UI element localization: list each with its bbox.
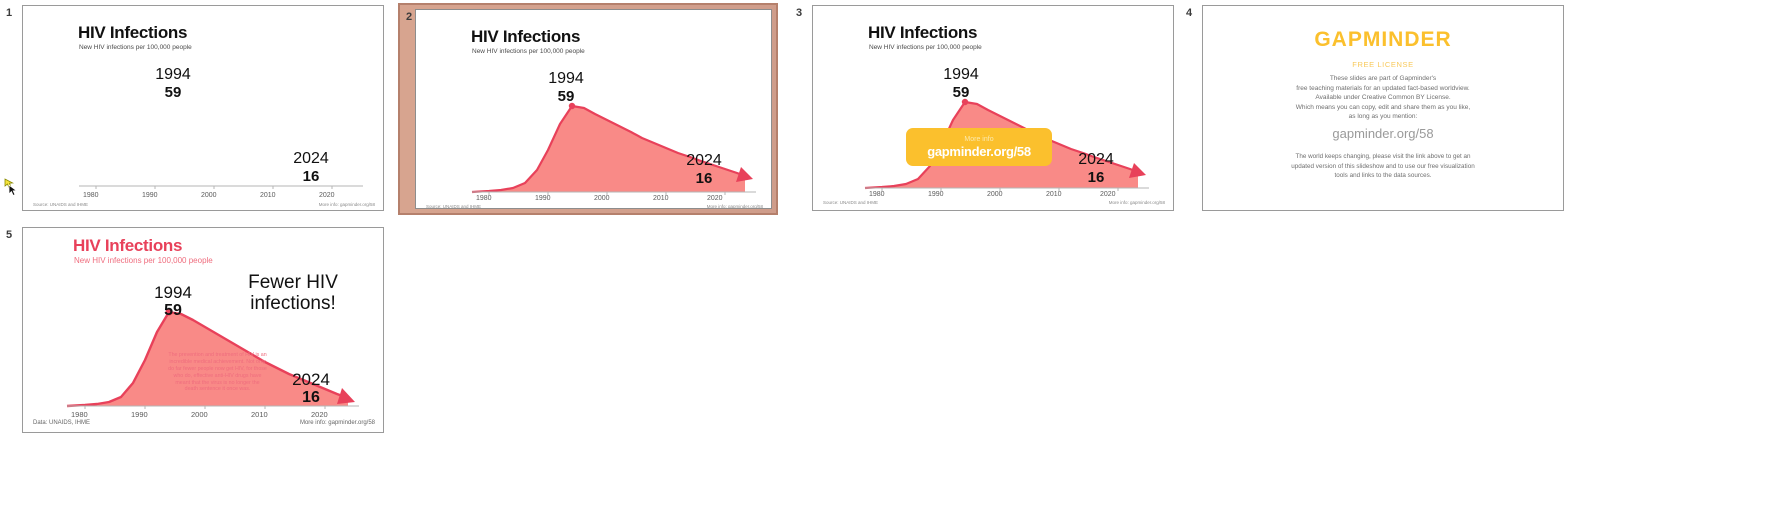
slide-thumbnail-4[interactable]: 4 GAPMINDER FREE LICENSE These slides ar… (1202, 5, 1564, 211)
gapminder-url[interactable]: gapminder.org/58 (1203, 126, 1563, 141)
page-title: HIV Infections (471, 27, 580, 47)
license-line-1: These slides are part of Gapminder's (1203, 74, 1563, 84)
x-tick-1990: 1990 (131, 410, 148, 419)
paragraph-line-4: who do, effective anti-HIV drugs have (155, 373, 280, 380)
callout-headline-line-1: Fewer HIV (213, 272, 373, 293)
end-year-label: 2024 (271, 370, 351, 390)
slide-canvas-3: HIV Infections New HIV infections per 10… (813, 6, 1173, 210)
x-tick-2020: 2020 (311, 410, 328, 419)
end-year-label: 2024 (664, 152, 744, 170)
slide-canvas-1: HIV Infections New HIV infections per 10… (23, 6, 383, 210)
x-tick-2010: 2010 (653, 195, 669, 202)
x-tick-2020: 2020 (1100, 191, 1116, 198)
slide-canvas-5: HIV Infections New HIV infections per 10… (23, 228, 383, 432)
page-subtitle: New HIV infections per 100,000 people (472, 48, 585, 55)
license-footer: The world keeps changing, please visit t… (1203, 152, 1563, 181)
paragraph-line-5: meant that the virus is no longer the (155, 380, 280, 387)
slide-number-3: 3 (796, 7, 802, 19)
x-tick-2000: 2000 (201, 192, 217, 199)
license-line-5: as long as you mention: (1203, 112, 1563, 122)
more-info-callout[interactable]: More info gapminder.org/58 (906, 128, 1052, 166)
slide-canvas-4: GAPMINDER FREE LICENSE These slides are … (1203, 6, 1563, 210)
peak-value-label: 59 (526, 88, 606, 105)
mouse-cursor-pointer (4, 178, 20, 196)
license-footer-line-3: tools and links to the data sources. (1203, 171, 1563, 181)
slide-thumbnail-5[interactable]: 5 HIV Infections New HIV infections per … (22, 227, 384, 433)
x-tick-2000: 2000 (191, 410, 208, 419)
peak-year-label: 1994 (921, 66, 1001, 84)
x-tick-2000: 2000 (594, 195, 610, 202)
slide-frame-3[interactable]: HIV Infections New HIV infections per 10… (812, 5, 1174, 211)
page-subtitle: New HIV infections per 100,000 people (74, 256, 213, 265)
slide-thumbnail-1[interactable]: 1 HIV Infections New HIV infections per … (22, 5, 384, 211)
footer-source: Source: UNAIDS and IHME (33, 202, 88, 207)
license-heading: FREE LICENSE (1203, 60, 1563, 69)
end-value-label: 16 (664, 170, 744, 187)
slide-number-4: 4 (1186, 7, 1192, 19)
license-footer-line-2: updated version of this slideshow and to… (1203, 162, 1563, 172)
x-tick-1980: 1980 (83, 192, 99, 199)
footer-more-info: More info: gapminder.org/58 (300, 420, 375, 426)
footer-more-info: More info: gapminder.org/58 (319, 202, 375, 207)
paragraph-line-6: death sentence it once was. (155, 386, 280, 393)
x-tick-2020: 2020 (319, 192, 335, 199)
callout-headline-line-2: infections! (213, 293, 373, 314)
peak-year-label: 1994 (526, 70, 606, 88)
page-subtitle: New HIV infections per 100,000 people (79, 44, 192, 51)
license-line-2: free teaching materials for an updated f… (1203, 84, 1563, 94)
x-tick-1990: 1990 (928, 191, 944, 198)
paragraph-line-1: The prevention and treatment of HIV is a… (155, 352, 280, 359)
x-tick-1990: 1990 (535, 195, 551, 202)
page-title: HIV Infections (868, 23, 977, 43)
slide-number-2: 2 (406, 11, 412, 23)
slide-thumbnail-2[interactable]: 2 HIV Infections New HIV infections per … (398, 3, 778, 215)
slide-frame-2[interactable]: 2 HIV Infections New HIV infections per … (398, 3, 778, 215)
slide-number-5: 5 (6, 229, 12, 241)
license-footer-line-1: The world keeps changing, please visit t… (1203, 152, 1563, 162)
end-year-label: 2024 (1056, 151, 1136, 169)
x-tick-1980: 1980 (869, 191, 885, 198)
license-line-4: Which means you can copy, edit and share… (1203, 103, 1563, 113)
chart-plot-area-1 (75, 58, 367, 190)
slide-frame-5[interactable]: HIV Infections New HIV infections per 10… (22, 227, 384, 433)
footer-source: Source: UNAIDS and IHME (426, 204, 481, 209)
peak-year-label: 1994 (133, 283, 213, 303)
footer-more-info: More info: gapminder.org/58 (707, 204, 763, 209)
page-subtitle: New HIV infections per 100,000 people (869, 44, 982, 51)
slide-canvas-2: HIV Infections New HIV infections per 10… (415, 9, 772, 209)
footer-source: Source: UNAIDS and IHME (823, 200, 878, 205)
footer-more-info: More info: gapminder.org/58 (1109, 200, 1165, 205)
end-value-label: 16 (1056, 169, 1136, 186)
slide-frame-4[interactable]: GAPMINDER FREE LICENSE These slides are … (1202, 5, 1564, 211)
gapminder-logo: GAPMINDER (1203, 28, 1563, 52)
paragraph-line-3: do far fewer people now get HIV, for tho… (155, 366, 280, 373)
x-tick-1980: 1980 (71, 410, 88, 419)
callout-label: More info (964, 135, 993, 144)
end-value-label: 16 (271, 389, 351, 407)
license-line-3: Available under Creative Common BY Licen… (1203, 93, 1563, 103)
callout-url: gapminder.org/58 (927, 144, 1031, 159)
x-tick-2010: 2010 (251, 410, 268, 419)
footer-source: Data: UNAIDS, IHME (33, 420, 90, 426)
slide-number-1: 1 (6, 7, 12, 19)
slide-sorter-canvas[interactable]: 1 HIV Infections New HIV infections per … (0, 0, 1776, 506)
x-tick-2010: 2010 (1046, 191, 1062, 198)
x-tick-2010: 2010 (260, 192, 276, 199)
slide-frame-1[interactable]: HIV Infections New HIV infections per 10… (22, 5, 384, 211)
explanatory-paragraph: The prevention and treatment of HIV is a… (155, 352, 280, 393)
license-body: These slides are part of Gapminder's fre… (1203, 74, 1563, 122)
x-tick-1980: 1980 (476, 195, 492, 202)
paragraph-line-2: incredible medical achievement. Not only (155, 359, 280, 366)
x-tick-2020: 2020 (707, 195, 723, 202)
x-tick-2000: 2000 (987, 191, 1003, 198)
page-title: HIV Infections (73, 236, 182, 256)
callout-headline: Fewer HIV infections! (213, 272, 373, 315)
peak-value-label: 59 (133, 302, 213, 320)
peak-value-label: 59 (921, 84, 1001, 101)
x-tick-1990: 1990 (142, 192, 158, 199)
page-title: HIV Infections (78, 23, 187, 43)
slide-thumbnail-3[interactable]: 3 HIV Infections New HIV infections per … (812, 5, 1174, 211)
